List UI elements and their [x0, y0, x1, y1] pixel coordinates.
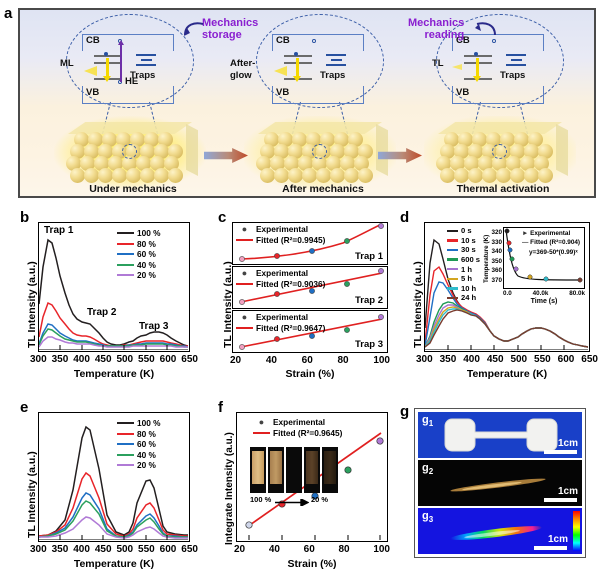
panel-d-inset-xlabel: Time (s): [503, 298, 585, 305]
panel-b-xlabel: Temperature (K): [38, 368, 190, 380]
traps-label-2: Traps: [320, 71, 345, 81]
panel-f-inset-to: 20 %: [311, 495, 328, 504]
cb-label-2: CB: [276, 36, 290, 46]
panel-c-legend-1: ●Experimental Fitted (R²=0.9945): [236, 224, 325, 245]
panel-f-xlabel: Strain (%): [236, 558, 388, 570]
legend-fit-f: Fitted (R²=0.9645): [273, 428, 342, 438]
light-emission-icon-1: [84, 66, 97, 76]
energy-diagram-2: CB VB After- glow Traps: [246, 14, 396, 122]
panel-c-xlabel: Strain (%): [232, 368, 388, 380]
panel-e-curves: [39, 413, 188, 540]
panel-a: CB VB ML Traps HE: [18, 8, 596, 198]
panel-g-scale-text-2: 1cm: [558, 486, 578, 497]
legend-item-d-3: 600 s: [461, 255, 480, 264]
panel-d-inset: ► Experimental — Fitted (R²=0.904) y=369…: [503, 227, 585, 289]
panel-g-scale-bar-3: [534, 546, 567, 550]
panel-d-plot: 0 s 10 s 30 s 600 s 1 h 5 h 10 h 24 h: [424, 222, 590, 352]
mechanics-reading-annotation: Mechanics reading: [408, 18, 464, 42]
legend-item-e-4: 20 %: [137, 460, 156, 470]
panel-d-label: d: [400, 210, 409, 225]
he-label-1: HE: [125, 77, 138, 87]
legend-exp-f: Experimental: [273, 417, 325, 427]
panel-d-inset-ylabel: Temperature (K): [483, 235, 490, 283]
panel-e-ylabel: TL Intensity (a.u.): [26, 451, 38, 538]
vb-label-2: VB: [276, 88, 289, 98]
panel-a-caption-1: Under mechanics: [42, 183, 224, 195]
panel-g-image-3: g3 1cm: [418, 508, 582, 554]
trap2-annotation-b: Trap 2: [87, 307, 116, 318]
emission-arrow-3: [476, 58, 479, 78]
panel-e-label: e: [20, 400, 28, 415]
legend-item-b-3: 40 %: [137, 260, 156, 270]
panel-a-stage-2: CB VB After- glow Traps: [232, 10, 414, 198]
panel-b-ylabel: TL Intensity (a.u.): [26, 261, 38, 348]
panel-e-plot: 100 % 80 % 60 % 40 % 20 %: [38, 412, 190, 542]
panel-c-subplot-1: ●Experimental Fitted (R²=0.9945) Trap 1: [232, 222, 388, 265]
legend-item-d-2: 30 s: [461, 245, 476, 254]
panel-d-legend: 0 s 10 s 30 s 600 s 1 h 5 h 10 h 24 h: [447, 226, 480, 303]
crystal-lattice-3: [430, 122, 570, 184]
panel-g-scale-text-3: 1cm: [548, 534, 568, 545]
legend-item-d-0: 0 s: [461, 226, 472, 235]
panel-c-label: c: [218, 210, 226, 225]
light-emission-icon-3: [452, 64, 462, 70]
panel-f-ylabel: Integrate Intensity (a.u.): [224, 432, 235, 545]
panel-c-title-1: Trap 1: [355, 251, 383, 262]
figure-root: a CB VB ML: [0, 0, 600, 580]
process-label-2: After- glow: [230, 58, 255, 82]
inset-exp-label: Experimental: [530, 230, 570, 237]
panel-c-title-2: Trap 2: [355, 295, 383, 306]
light-emission-icon-2: [274, 66, 287, 76]
vb-label-1: VB: [86, 88, 99, 98]
panel-e-xticks: 300350400450500550600650: [30, 544, 198, 555]
panel-a-label: a: [4, 6, 12, 21]
legend-fit-c-0: Fitted (R²=0.9945): [256, 235, 325, 245]
panel-g-image-2: g2 1cm: [418, 460, 582, 506]
panel-b-plot: Trap 1 Trap 2 Trap 3 100 % 80 % 60 % 40 …: [38, 222, 190, 352]
legend-item-e-2: 60 %: [137, 439, 156, 449]
panel-d-inset-legend: ► Experimental — Fitted (R²=0.904) y=369…: [522, 229, 580, 257]
panel-c-ylabel: TL Intensity (a.u.): [222, 261, 234, 348]
panel-c-subplot-2: ●Experimental Fitted (R²=0.9036) Trap 2: [232, 266, 388, 309]
panel-g-scale-bar-2: [544, 498, 577, 502]
panel-f-xticks: 20406080100: [234, 544, 390, 555]
panel-d-ylabel: TL Intensity (a.u.): [412, 261, 424, 348]
curved-arrow-icon-2: [475, 20, 497, 36]
panel-f-inset-from: 100 %: [250, 495, 271, 504]
trap3-annotation-b: Trap 3: [139, 321, 168, 332]
panel-b-xticks: 300350400450500550600650: [30, 354, 198, 365]
panel-g-tag-2: g2: [422, 462, 433, 476]
legend-exp-c-0: Experimental: [256, 224, 308, 234]
legend-item-b-0: 100 %: [137, 228, 161, 238]
emission-arrow-2: [296, 58, 299, 78]
panel-f-label: f: [218, 400, 223, 415]
legend-item-d-4: 1 h: [461, 265, 472, 274]
panel-b-label: b: [20, 210, 29, 225]
legend-item-b-1: 80 %: [137, 239, 156, 249]
legend-fit-c-1: Fitted (R²=0.9036): [256, 279, 325, 289]
panel-a-caption-2: After mechanics: [232, 183, 414, 195]
process-label-3: TL: [432, 59, 444, 69]
legend-item-e-3: 40 %: [137, 450, 156, 460]
panel-f-inset-arrow-icon: [275, 499, 309, 506]
legend-exp-c-2: Experimental: [256, 312, 308, 322]
panel-a-stage-1: CB VB ML Traps HE: [42, 10, 224, 198]
panel-g-tag-3: g3: [422, 510, 433, 524]
panel-g: g1 1cm g2 1cm g3: [414, 408, 586, 558]
panel-c-xticks: 20406080100: [230, 355, 390, 366]
panel-c-legend-2: ●Experimental Fitted (R²=0.9036): [236, 268, 325, 289]
panel-e-xlabel: Temperature (K): [38, 558, 190, 570]
legend-item-d-6: 10 h: [461, 284, 476, 293]
legend-item-d-1: 10 s: [461, 236, 476, 245]
legend-item-d-7: 24 h: [461, 293, 476, 302]
legend-exp-c-1: Experimental: [256, 268, 308, 278]
panel-d-xticks: 300350400450500550600650: [416, 354, 598, 365]
process-label-1: ML: [60, 59, 74, 69]
panel-d-inset-xticks: 0.0 40.0k 80.0k: [503, 290, 585, 297]
panel-g-scale-bar-1: [544, 450, 577, 454]
legend-item-b-4: 20 %: [137, 270, 156, 280]
panel-b-legend: 100 % 80 % 60 % 40 % 20 %: [117, 228, 161, 281]
panel-f-plot: ●Experimental Fitted (R²=0.9645) 100 % 2…: [236, 412, 388, 542]
panel-d-xlabel: Temperature (K): [424, 368, 590, 380]
panel-g-tag-1: g1: [422, 414, 433, 428]
trap1-annotation-b: Trap 1: [44, 225, 73, 236]
crystal-lattice-1: [60, 122, 200, 184]
legend-item-d-5: 5 h: [461, 274, 472, 283]
emission-arrow-1: [106, 58, 109, 78]
legend-item-b-2: 60 %: [137, 249, 156, 259]
panel-g-label: g: [400, 404, 409, 419]
legend-item-e-1: 80 %: [137, 429, 156, 439]
panel-f-legend: ●Experimental Fitted (R²=0.9645): [253, 417, 342, 438]
traps-label-3: Traps: [500, 71, 525, 81]
legend-fit-c-2: Fitted (R²=0.9647): [256, 323, 325, 333]
crystal-lattice-2: [250, 122, 390, 184]
excitation-arrow-1: [120, 44, 122, 82]
curved-arrow-icon-1: [183, 20, 205, 36]
cb-label-1: CB: [86, 36, 100, 46]
panel-a-caption-3: Thermal activation: [412, 183, 594, 195]
panel-c-legend-3: ●Experimental Fitted (R²=0.9647): [236, 312, 325, 333]
panel-g-colorbar: [573, 511, 580, 551]
panel-c-subplot-3: ●Experimental Fitted (R²=0.9647) Trap 3: [232, 310, 388, 353]
panel-e-legend: 100 % 80 % 60 % 40 % 20 %: [117, 418, 161, 471]
legend-item-e-0: 100 %: [137, 418, 161, 428]
vb-label-3: VB: [456, 88, 469, 98]
panel-f-inset-photos: [250, 447, 338, 493]
panel-g-image-1: g1 1cm: [418, 412, 582, 458]
panel-c-title-3: Trap 3: [355, 339, 383, 350]
panel-g-scale-text-1: 1cm: [558, 438, 578, 449]
inset-equation: y=369-50*(0.99)ˣ: [529, 248, 580, 257]
inset-fit-label: Fitted (R²=0.904): [530, 239, 580, 246]
